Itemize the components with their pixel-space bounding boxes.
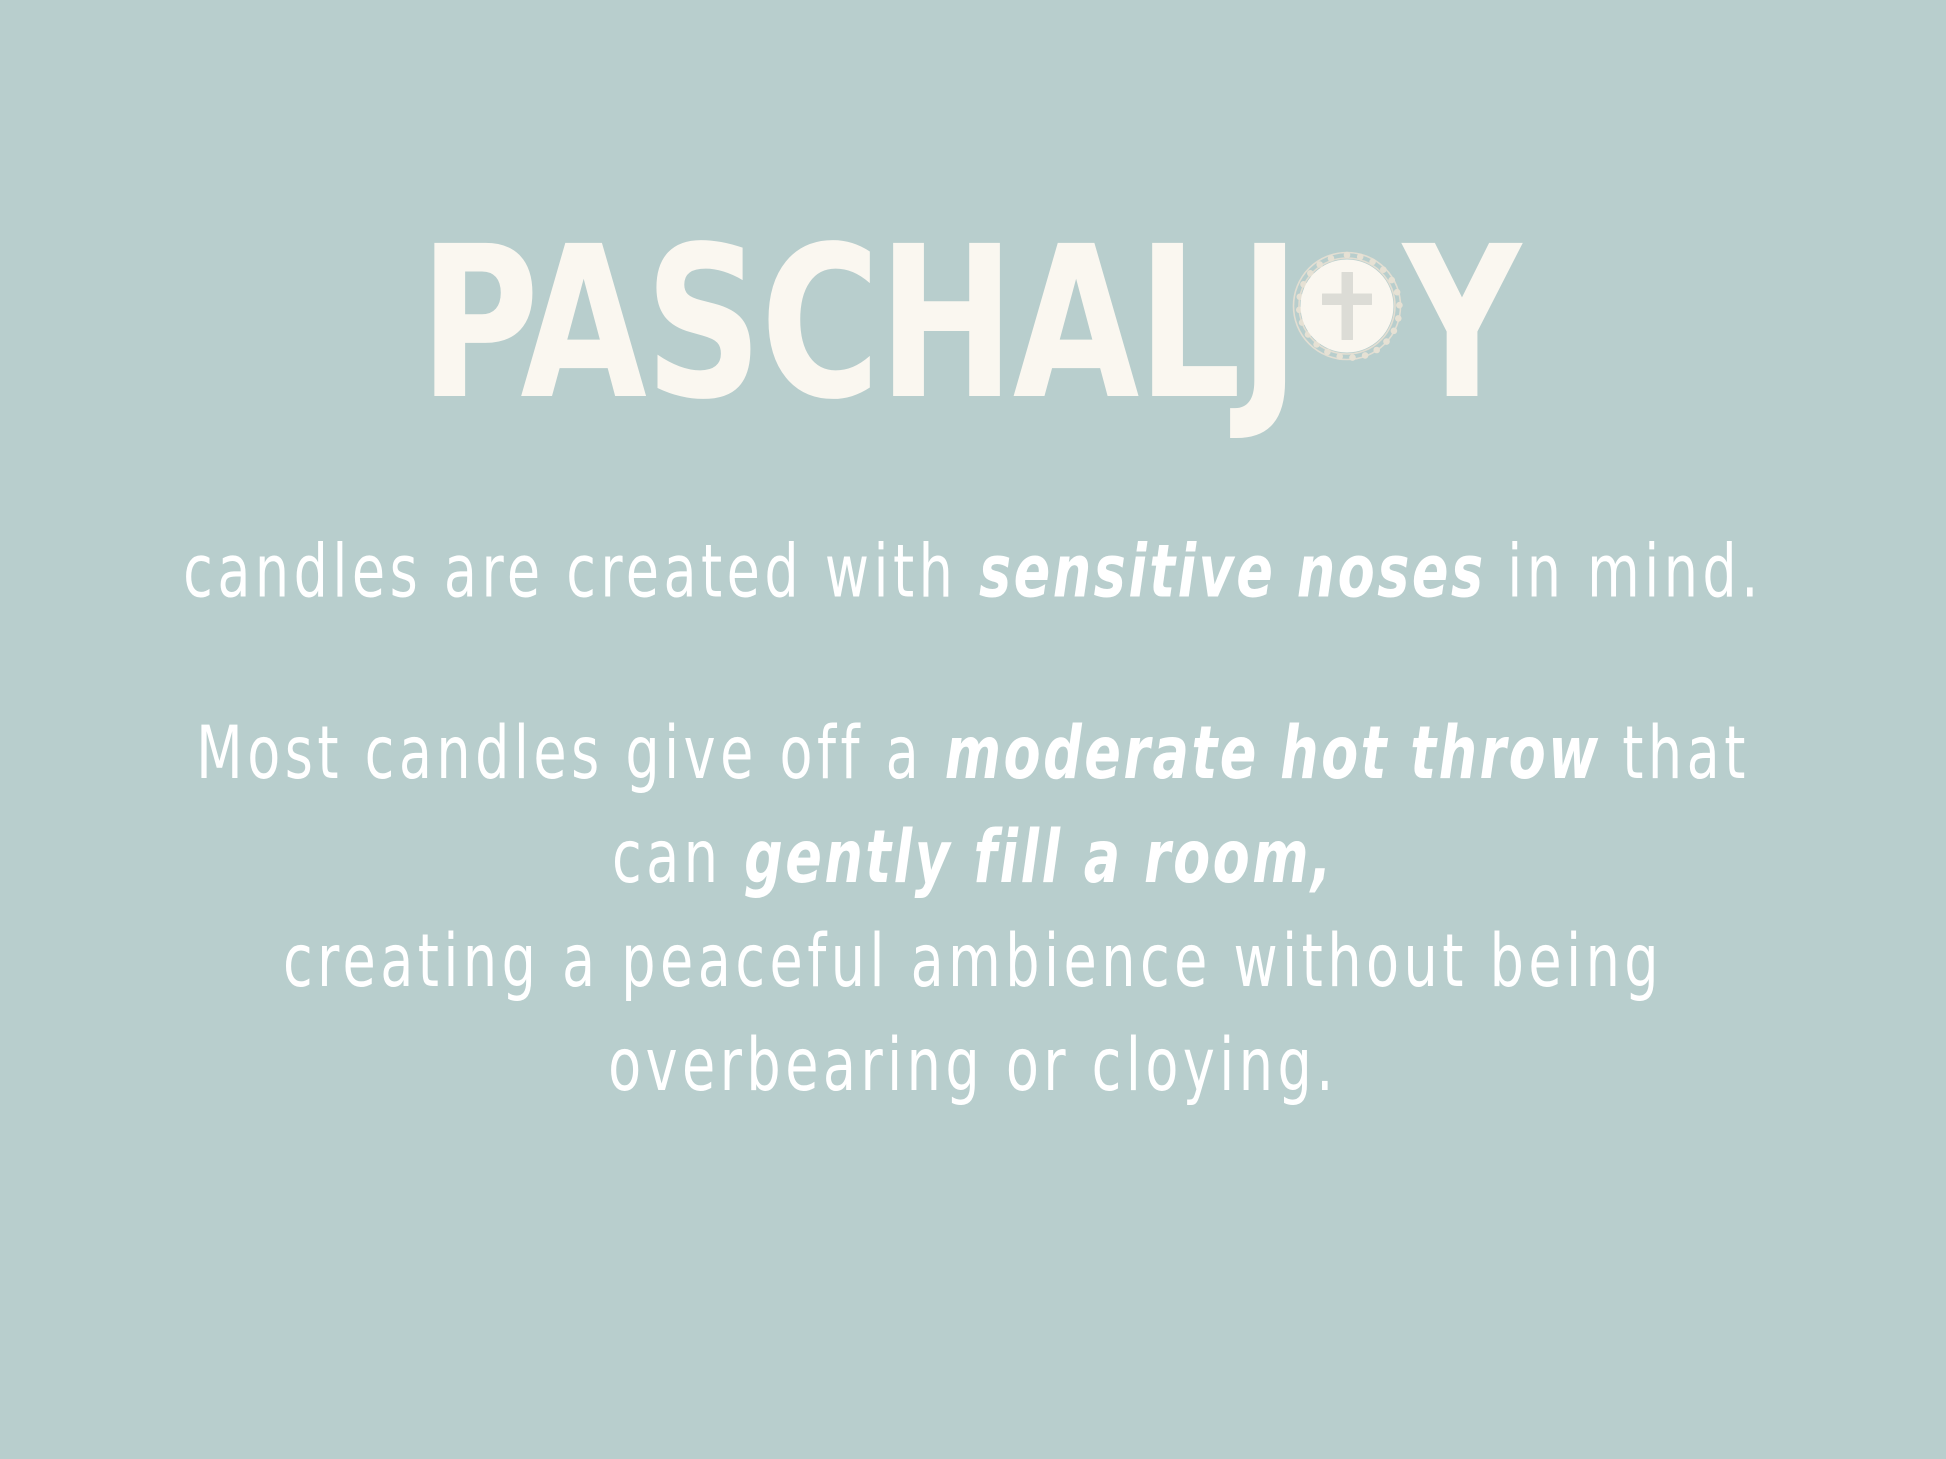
wordmark: PASCHALJ xyxy=(428,251,1517,429)
paragraph-line-1: Most candles give off a moderate hot thr… xyxy=(0,717,1946,790)
wordmark-text-after-emblem: Y xyxy=(1403,219,1519,429)
tagline-before: candles are created with xyxy=(183,529,979,614)
tagline: candles are created with sensitive noses… xyxy=(0,500,1946,614)
paragraph-block: Most candles give off a moderate hot thr… xyxy=(0,717,1946,1089)
copy-block: candles are created with sensitive noses… xyxy=(0,500,1946,1133)
paragraph-line-2-emphasis: gently fill a room, xyxy=(744,815,1334,900)
paragraph-line-4: overbearing or cloying. xyxy=(0,1029,1946,1102)
tagline-after: in mind. xyxy=(1486,529,1763,614)
paragraph-line-1-before: Most candles give off a xyxy=(196,711,945,796)
paragraph-line-1-emphasis: moderate hot throw xyxy=(945,711,1601,796)
paragraph-line-1-after: that xyxy=(1601,711,1750,796)
wordmark-text-before-emblem: PASCHALJ xyxy=(420,219,1299,429)
slide-canvas: PASCHALJ xyxy=(0,0,1946,1459)
paragraph-line-3: creating a peaceful ambience without bei… xyxy=(0,925,1946,998)
brand-lockup: PASCHALJ xyxy=(0,250,1946,430)
tagline-emphasis: sensitive noses xyxy=(979,529,1486,614)
paragraph-line-2-before: can xyxy=(612,815,744,900)
paragraph-line-2: can gently fill a room, xyxy=(0,821,1946,894)
cross-in-scalloped-circle-icon xyxy=(1291,250,1403,362)
